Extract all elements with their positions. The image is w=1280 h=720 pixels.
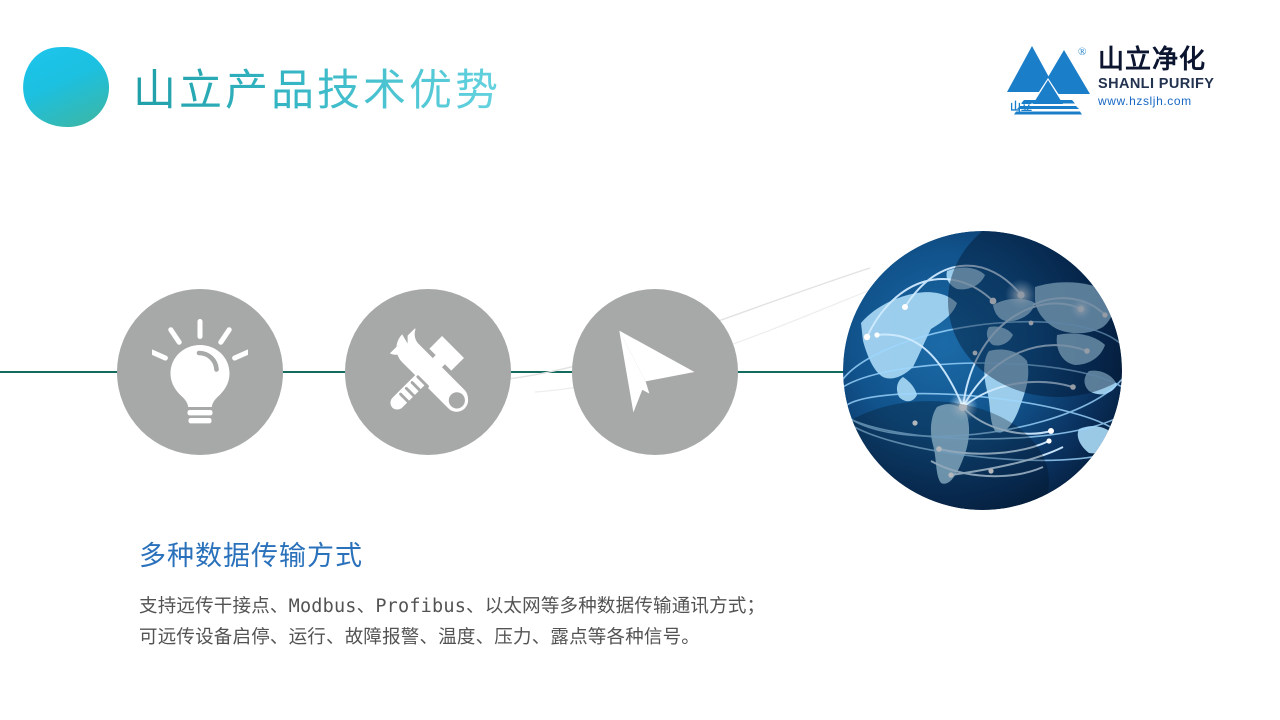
logo-website-url: www.hzsljh.com — [1098, 94, 1226, 109]
logo-company-en: SHANLI PURIFY — [1098, 76, 1226, 93]
wrench-screwdriver-icon — [378, 322, 478, 422]
logo-mark-caption: 山立 — [1010, 98, 1032, 114]
company-logo: ® 山立 山立净化 SHANLI PURIFY www.hzsljh.com — [1002, 44, 1222, 122]
caption-body-line-2: 可远传设备启停、运行、故障报警、温度、压力、露点等各种信号。 — [139, 622, 765, 653]
page-title: 山立产品技术优势 — [133, 62, 501, 120]
caption-body: 支持远传干接点、Modbus、Profibus、以太网等多种数据传输通讯方式； … — [139, 591, 765, 653]
teal-blob-shape — [22, 46, 110, 128]
logo-text-block: 山立净化 SHANLI PURIFY www.hzsljh.com — [1098, 46, 1226, 109]
caption-heading: 多种数据传输方式 — [139, 539, 363, 575]
feature-icon-cursor[interactable] — [572, 289, 738, 455]
feature-icon-tools[interactable] — [345, 289, 511, 455]
feature-icon-lightbulb[interactable] — [117, 289, 283, 455]
caption-body-line-1: 支持远传干接点、Modbus、Profibus、以太网等多种数据传输通讯方式； — [139, 591, 765, 622]
logo-company-cn: 山立净化 — [1098, 46, 1226, 74]
network-globe-image — [843, 231, 1122, 510]
slide-canvas: 山立产品技术优势 ® 山立 山立净化 SHANLI PURIF — [0, 0, 1280, 720]
registered-trademark-icon: ® — [1078, 46, 1086, 58]
cursor-arrow-icon — [608, 325, 702, 419]
lightbulb-icon — [152, 319, 248, 425]
